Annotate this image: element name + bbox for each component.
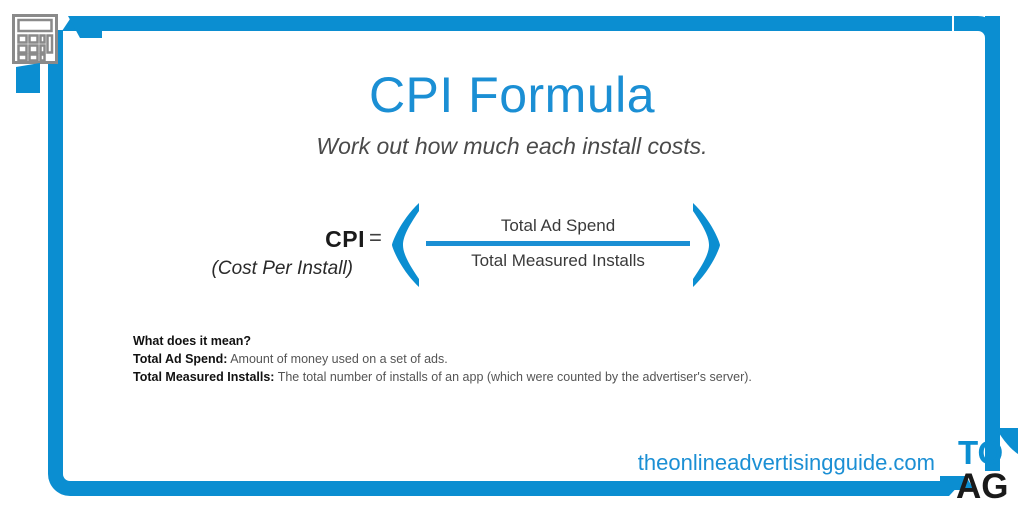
page-subtitle: Work out how much each install costs. [0, 133, 1024, 160]
fraction-bar [426, 241, 690, 246]
explanation-definition: Amount of money used on a set of ads. [227, 352, 447, 366]
explanation-block: What does it mean? Total Ad Spend: Amoun… [133, 332, 933, 386]
toag-logo[interactable]: TO AG [940, 428, 1024, 508]
formula-abbreviation: CPI [325, 226, 365, 253]
open-paren-icon [386, 201, 422, 289]
infographic-canvas: CPI Formula Work out how much each insta… [0, 0, 1024, 512]
close-paren-icon [690, 201, 726, 289]
page-title: CPI Formula [0, 66, 1024, 124]
website-url[interactable]: theonlineadvertisingguide.com [638, 450, 935, 476]
formula-block: CPI (Cost Per Install) = Total Ad Spend … [150, 195, 790, 295]
explanation-heading: What does it mean? [133, 332, 933, 350]
explanation-term: Total Ad Spend: [133, 352, 227, 366]
equals-sign: = [369, 225, 382, 251]
frame-top-bar [62, 16, 952, 31]
svg-text:AG: AG [956, 467, 1009, 506]
calculator-icon [12, 14, 58, 64]
formula-expansion: (Cost Per Install) [212, 258, 353, 280]
fraction-numerator: Total Ad Spend [426, 213, 690, 239]
explanation-item: Total Ad Spend: Amount of money used on … [133, 350, 933, 368]
explanation-definition: The total number of installs of an app (… [274, 370, 751, 384]
explanation-item: Total Measured Installs: The total numbe… [133, 368, 933, 386]
fraction: Total Ad Spend Total Measured Installs [426, 213, 690, 274]
fraction-denominator: Total Measured Installs [426, 248, 690, 274]
frame-bottom-bar [85, 481, 963, 496]
svg-text:TO: TO [958, 434, 1003, 471]
explanation-term: Total Measured Installs: [133, 370, 274, 384]
